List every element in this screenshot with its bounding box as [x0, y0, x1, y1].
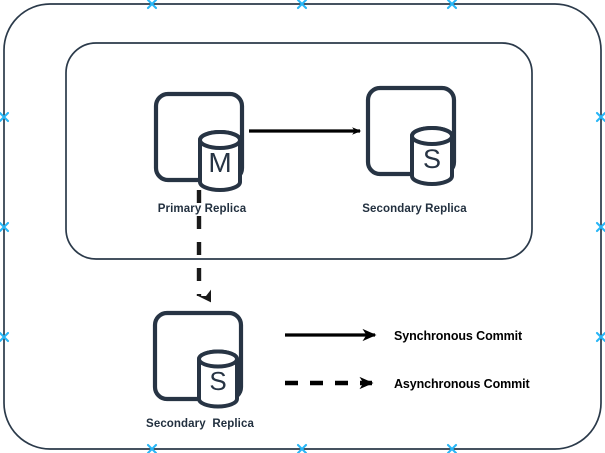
server-database-icon: S [155, 313, 241, 407]
legend-label-asynchronous-commit: Asynchronous Commit [394, 377, 530, 391]
legend-label-synchronous-commit: Synchronous Commit [394, 329, 522, 343]
node-secondary-replica-bottom[interactable]: S [155, 313, 241, 407]
server-database-icon: M [156, 94, 242, 190]
server-database-icon: S [368, 88, 454, 184]
synchronous-group-boundary[interactable] [66, 43, 532, 259]
database-letter-m: M [208, 147, 231, 178]
legend [285, 335, 375, 383]
database-letter-s: S [209, 366, 226, 396]
database-letter-s: S [423, 144, 441, 174]
label-secondary-replica-bottom: Secondary Replica [120, 418, 280, 430]
node-primary-replica[interactable]: M [156, 94, 242, 190]
label-primary-replica: Primary Replica [137, 203, 267, 215]
diagram-canvas: M S S [0, 0, 605, 453]
label-secondary-replica-top: Secondary Replica [337, 203, 492, 215]
node-secondary-replica-top[interactable]: S [368, 88, 454, 184]
